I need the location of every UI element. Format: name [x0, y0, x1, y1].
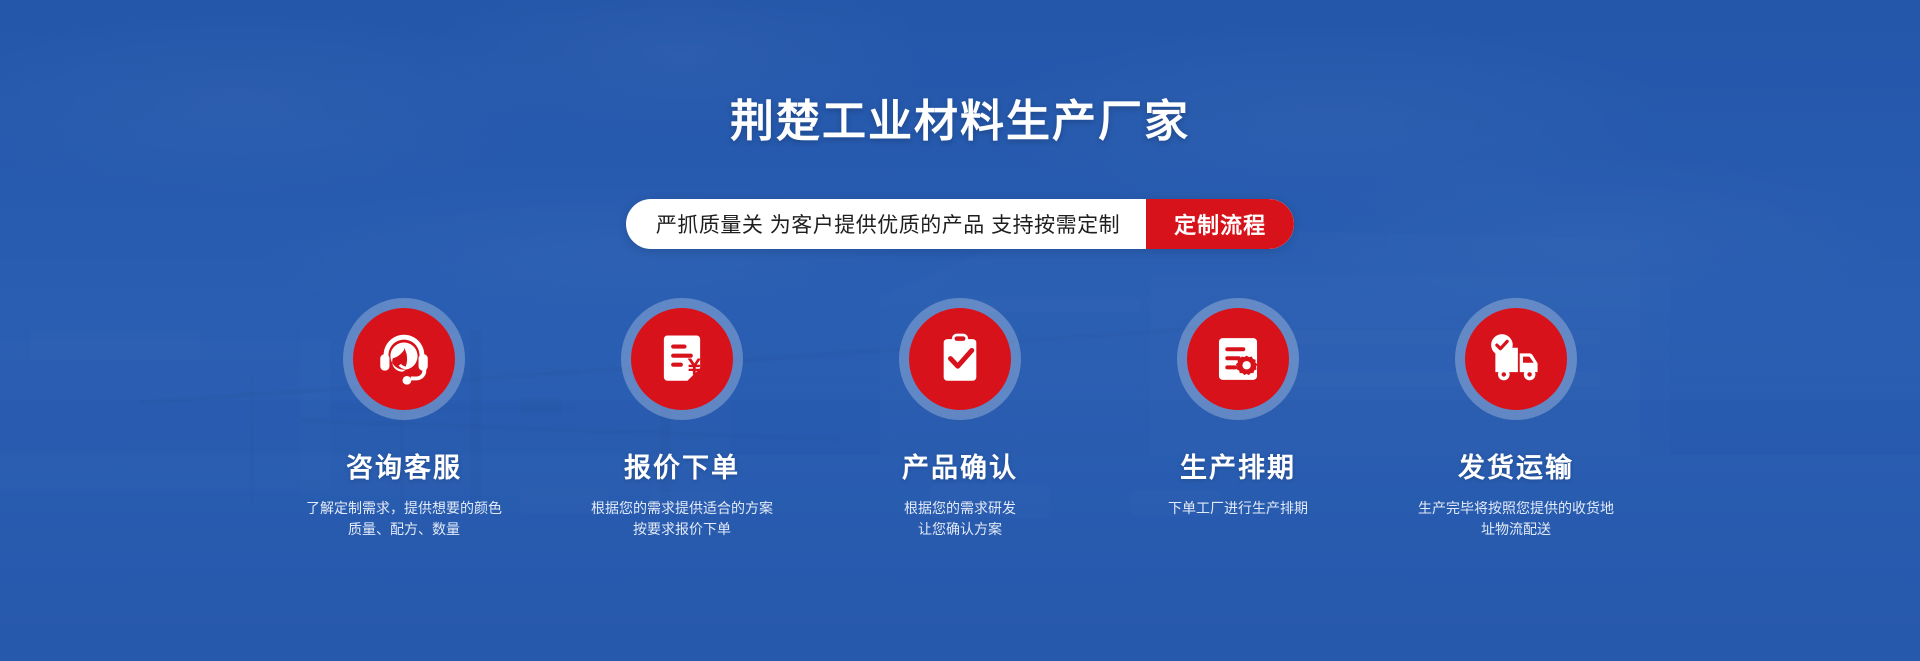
- icon-circle: [1187, 308, 1289, 410]
- process-steps: 咨询客服 了解定制需求，提供想要的颜色质量、配方、数量: [270, 298, 1650, 540]
- icon-ring: [899, 298, 1021, 420]
- step-description: 了解定制需求，提供想要的颜色质量、配方、数量: [306, 498, 502, 540]
- document-gear-icon: [1209, 330, 1267, 388]
- step-title: 发货运输: [1458, 446, 1574, 485]
- clipboard-check-icon: [931, 330, 989, 388]
- step-title: 报价下单: [624, 446, 740, 485]
- step-description: 根据您的需求提供适合的方案按要求报价下单: [591, 498, 773, 540]
- icon-circle: [353, 308, 455, 410]
- step-title: 咨询客服: [346, 446, 462, 485]
- step-item[interactable]: 咨询客服 了解定制需求，提供想要的颜色质量、配方、数量: [270, 298, 538, 540]
- step-item[interactable]: 发货运输 生产完毕将按照您提供的收货地址物流配送: [1382, 298, 1650, 540]
- icon-circle: [1465, 308, 1567, 410]
- step-title: 产品确认: [902, 446, 1018, 485]
- step-description: 生产完毕将按照您提供的收货地址物流配送: [1418, 498, 1614, 540]
- page-title: 荆楚工业材料生产厂家: [0, 96, 1920, 148]
- icon-circle: [631, 308, 733, 410]
- invoice-yuan-icon: [653, 330, 711, 388]
- step-title: 生产排期: [1180, 446, 1296, 485]
- step-description: 下单工厂进行生产排期: [1168, 498, 1308, 519]
- headset-operator-icon: [373, 328, 435, 390]
- promo-banner: 荆楚工业材料生产厂家 严抓质量关 为客户提供优质的产品 支持按需定制 定制流程: [0, 0, 1920, 661]
- step-item[interactable]: 生产排期 下单工厂进行生产排期: [1104, 298, 1372, 519]
- banner-content: 荆楚工业材料生产厂家 严抓质量关 为客户提供优质的产品 支持按需定制 定制流程: [0, 0, 1920, 661]
- step-item[interactable]: 产品确认 根据您的需求研发让您确认方案: [826, 298, 1094, 540]
- icon-circle: [909, 308, 1011, 410]
- icon-ring: [1455, 298, 1577, 420]
- tagline-pill: 严抓质量关 为客户提供优质的产品 支持按需定制 定制流程: [626, 199, 1294, 249]
- custom-process-button[interactable]: 定制流程: [1146, 199, 1294, 249]
- icon-ring: [621, 298, 743, 420]
- icon-ring: [1177, 298, 1299, 420]
- truck-check-icon: [1486, 329, 1546, 389]
- icon-ring: [343, 298, 465, 420]
- tagline-pill-wrapper: 严抓质量关 为客户提供优质的产品 支持按需定制 定制流程: [0, 199, 1920, 249]
- tagline-text: 严抓质量关 为客户提供优质的产品 支持按需定制: [626, 199, 1146, 249]
- step-item[interactable]: 报价下单 根据您的需求提供适合的方案按要求报价下单: [548, 298, 816, 540]
- step-description: 根据您的需求研发让您确认方案: [904, 498, 1016, 540]
